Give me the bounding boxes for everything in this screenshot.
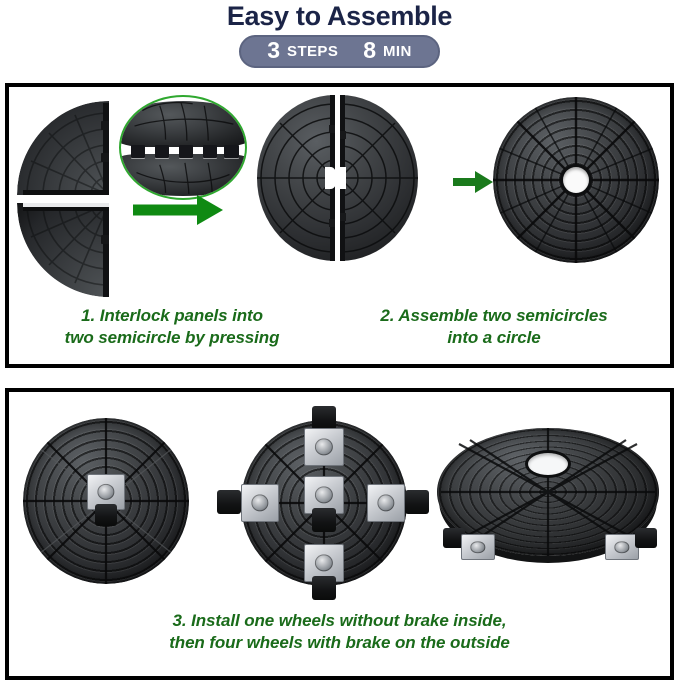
caption-step-1: 1. Interlock panels into two semicircle … <box>33 305 311 349</box>
caption-step-3: 3. Install one wheels without brake insi… <box>29 610 650 654</box>
panel-bottom: 3. Install one wheels without brake insi… <box>5 388 674 680</box>
caster-east-plate <box>367 484 405 522</box>
assembly-arrow-1-icon <box>133 195 223 225</box>
assembly-arrow-2-icon <box>453 171 493 193</box>
panel-top: 1. Interlock panels into two semicircle … <box>5 83 674 368</box>
finished-base-center-hole <box>528 453 568 475</box>
caster-front-left-plate <box>461 534 495 560</box>
caster-south-wheel <box>312 576 336 600</box>
panel-bottom-content: 3. Install one wheels without brake insi… <box>9 392 670 676</box>
interlock-detail-inset <box>119 95 247 200</box>
panel-top-content: 1. Interlock panels into two semicircle … <box>9 87 670 364</box>
caster-center <box>301 476 347 534</box>
caster-north-plate <box>304 428 344 466</box>
base-underside-five-casters <box>219 408 429 598</box>
caption-step-3-line-1: 3. Install one wheels without brake insi… <box>29 610 650 632</box>
caption-step-2-line-2: into a circle <box>339 327 649 349</box>
time-value: 8 <box>363 39 376 62</box>
caster-front-left <box>443 524 499 568</box>
semicircle-right <box>340 95 418 261</box>
center-hole <box>563 167 589 193</box>
base-underside-one-caster <box>23 418 189 584</box>
caption-step-2: 2. Assemble two semicircles into a circl… <box>339 305 649 349</box>
time-unit-label: MIN <box>383 44 412 59</box>
caster-east-wheel <box>405 490 429 514</box>
semicircle-right-grid-icon <box>340 95 418 261</box>
caster-north <box>301 406 347 464</box>
quarter-panel-lower <box>17 203 109 297</box>
header: Easy to Assemble 3 STEPS 8 MIN <box>0 0 679 68</box>
caster-front-right-plate <box>605 534 639 560</box>
caster-south <box>301 544 347 602</box>
caster-west-plate <box>241 484 279 522</box>
finished-base-angled-view <box>437 428 663 588</box>
badge-wrap: 3 STEPS 8 MIN <box>0 35 679 68</box>
page-title: Easy to Assemble <box>0 1 679 31</box>
caster-front-right-wheel <box>635 528 657 548</box>
steps-time-badge: 3 STEPS 8 MIN <box>239 35 439 68</box>
caster-west-wheel <box>217 490 241 514</box>
caster-north-wheel <box>312 406 336 430</box>
caster-front-right <box>601 524 657 568</box>
semicircle-left <box>257 95 335 261</box>
caption-step-1-line-1: 1. Interlock panels into <box>33 305 311 327</box>
assembled-circle-base <box>493 97 659 263</box>
caption-step-2-line-1: 2. Assemble two semicircles <box>339 305 649 327</box>
quarter-panel-upper <box>17 101 109 195</box>
caption-step-1-line-2: two semicircle by pressing <box>33 327 311 349</box>
steps-count: 3 <box>267 39 280 62</box>
semicircle-left-grid-icon <box>257 95 335 261</box>
caster-center-wheel <box>95 504 117 526</box>
steps-unit-label: STEPS <box>287 44 338 59</box>
caster-center-wheel <box>312 508 336 532</box>
caster-east <box>367 482 431 526</box>
inset-ribs-icon <box>121 97 245 199</box>
assembly-instruction-graphic: Easy to Assemble 3 STEPS 8 MIN <box>0 0 679 685</box>
caster-west <box>215 482 279 526</box>
caption-step-3-line-2: then four wheels with brake on the outsi… <box>29 632 650 654</box>
caster-center <box>85 474 127 528</box>
